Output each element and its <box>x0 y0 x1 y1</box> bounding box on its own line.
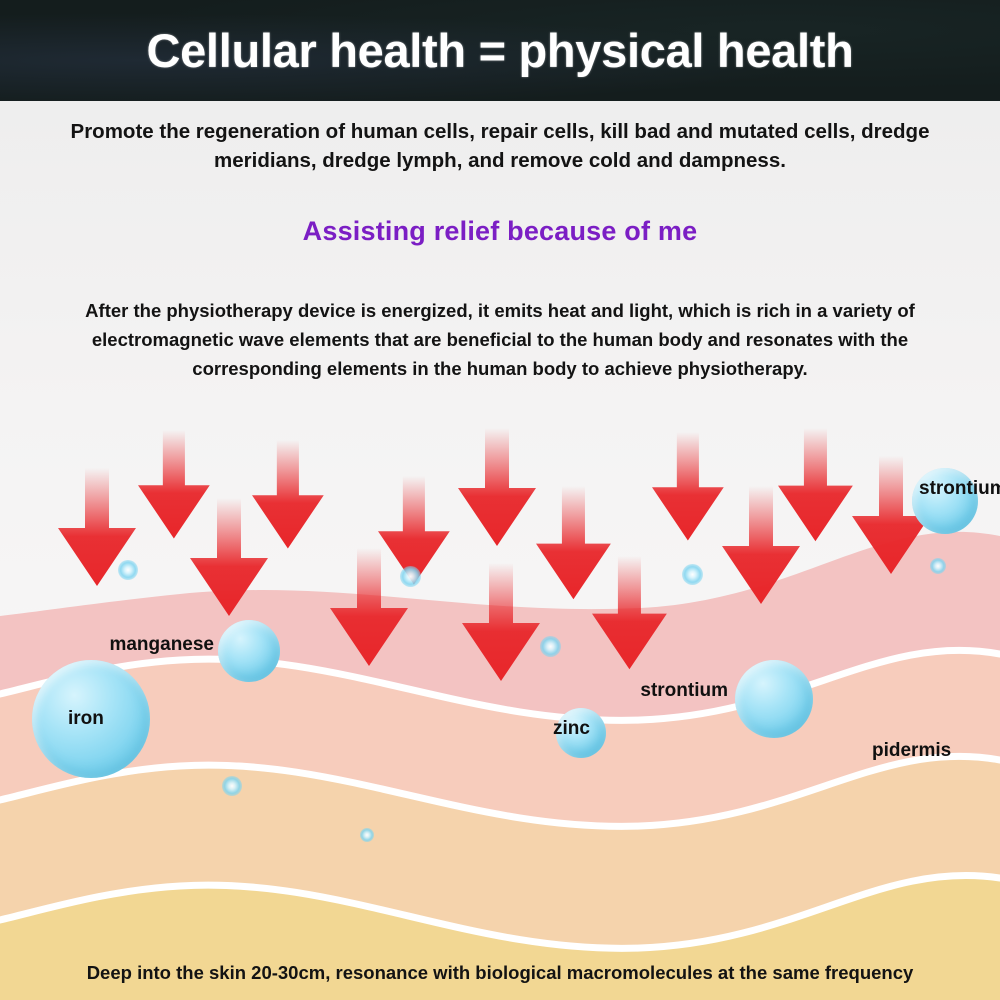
subheading: Assisting relief because of me <box>0 216 1000 247</box>
micro-particle <box>222 776 242 796</box>
element-label-strontium: strontium <box>919 478 1000 500</box>
micro-particle <box>930 558 946 574</box>
element-label-strontium: strontium <box>640 680 728 702</box>
header-band: Cellular health = physical health <box>0 0 1000 101</box>
upper-text-section: Promote the regeneration of human cells,… <box>0 101 1000 408</box>
intro-paragraph: Promote the regeneration of human cells,… <box>24 117 976 175</box>
skin-layers-graphic <box>0 408 1000 1000</box>
skin-layer-label: pidermis <box>872 740 951 762</box>
element-label-manganese: manganese <box>109 634 214 656</box>
bottom-caption: Deep into the skin 20-30cm, resonance wi… <box>0 962 1000 984</box>
infographic-page: Cellular health = physical health Promot… <box>0 0 1000 1000</box>
micro-particle <box>682 564 703 585</box>
micro-particle <box>360 828 374 842</box>
micro-particle <box>118 560 138 580</box>
detail-paragraph: After the physiotherapy device is energi… <box>28 297 972 384</box>
skin-penetration-diagram: strontiummanganeseironzincstrontium pide… <box>0 408 1000 1000</box>
element-label-zinc: zinc <box>553 718 590 740</box>
element-label-iron: iron <box>68 708 104 730</box>
micro-particle <box>540 636 561 657</box>
page-title: Cellular health = physical health <box>146 23 853 78</box>
element-sphere-strontium <box>735 660 813 738</box>
micro-particle <box>400 566 421 587</box>
element-sphere-manganese <box>218 620 280 682</box>
